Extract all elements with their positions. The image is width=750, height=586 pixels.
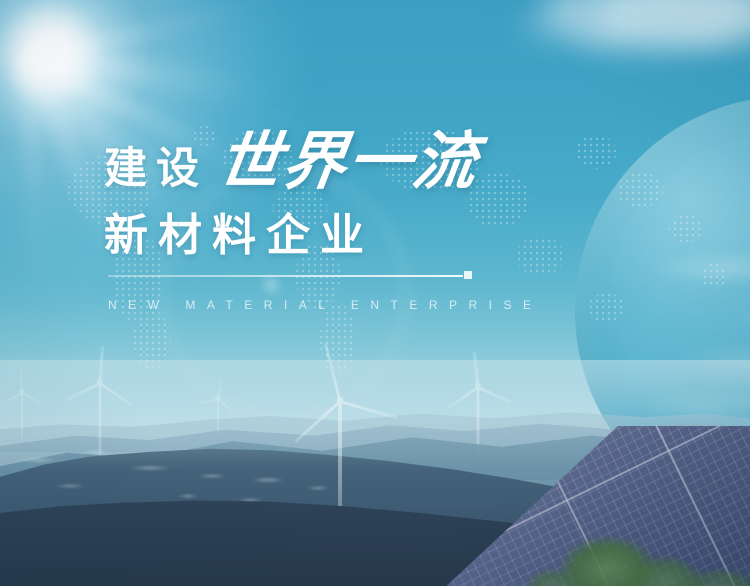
headline-divider (108, 275, 463, 277)
banner-subtitle: NEW MATERIAL ENTERPRISE (108, 298, 543, 312)
headline-line-2: 新材料企业 (104, 214, 374, 258)
divider-end-marker (464, 271, 472, 279)
hero-banner: 建设 世界一流 新材料企业 NEW MATERIAL ENTERPRISE (0, 0, 750, 586)
headline-line-1: 建设 世界一流 (104, 131, 478, 194)
banner-content: 建设 世界一流 新材料企业 NEW MATERIAL ENTERPRISE (0, 0, 750, 586)
headline-emphasis: 世界一流 (214, 131, 483, 194)
headline-prefix: 建设 (104, 148, 208, 191)
